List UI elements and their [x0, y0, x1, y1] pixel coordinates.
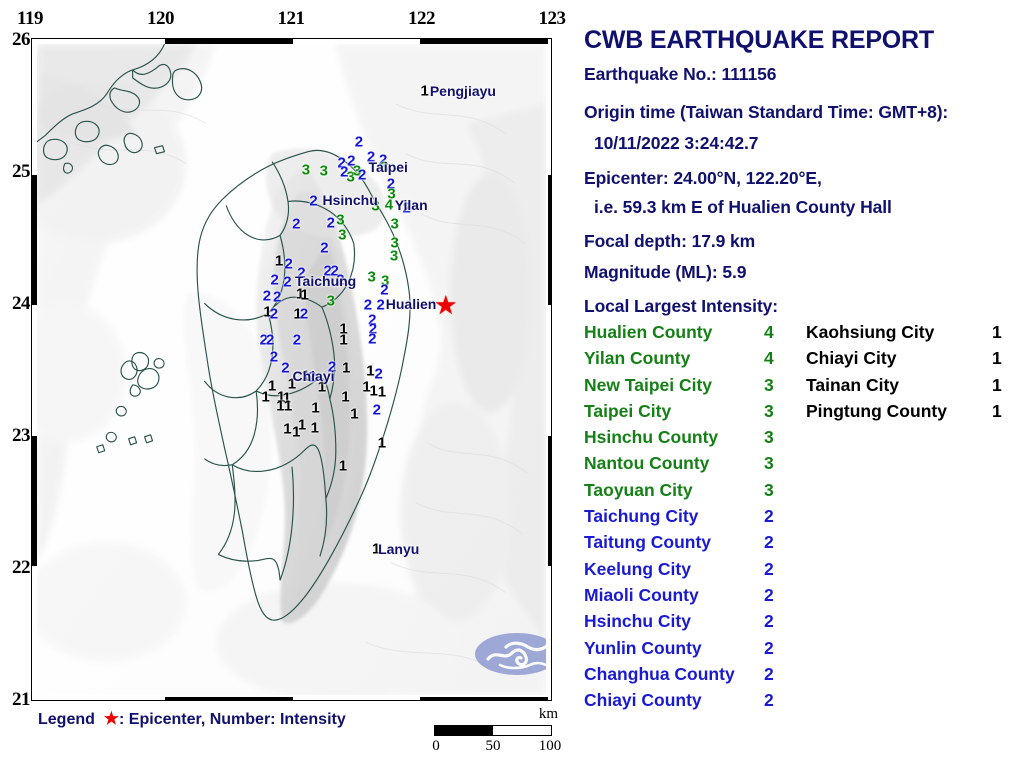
intensity-region-name: Tainan City	[806, 375, 899, 396]
map-intensity-marker: 1	[366, 362, 374, 379]
map-frame: 1222222333323234322332232331222222233211…	[31, 38, 552, 701]
intensity-region-name: Taoyuan City	[584, 480, 693, 501]
map-intensity-marker: 1	[300, 287, 308, 304]
map-intensity-marker: 1	[262, 388, 270, 405]
map-intensity-marker: 1	[421, 83, 429, 100]
map-place-label: Yilan	[395, 197, 428, 213]
map-place-label: Hualien	[386, 296, 437, 312]
latitude-tick-label: 22	[12, 557, 30, 579]
map-place-label: Taipei	[369, 159, 408, 175]
intensity-value: 2	[764, 559, 774, 580]
intensity-row: Chiayi County2	[584, 690, 804, 716]
map-frame-segment	[548, 436, 552, 567]
longitude-tick-label: 122	[408, 8, 435, 30]
intensity-region-name: Kaohsiung City	[806, 322, 934, 343]
map-intensity-marker: 2	[263, 288, 271, 305]
map-intensity-marker: 1	[284, 397, 292, 414]
map-intensity-marker: 2	[293, 332, 301, 349]
map-intensity-marker: 2	[270, 271, 278, 288]
map-intensity-marker: 2	[355, 133, 363, 150]
intensity-value: 3	[764, 375, 774, 396]
intensity-value: 3	[764, 480, 774, 501]
map-intensity-marker: 1	[311, 400, 319, 417]
map-intensity-marker: 2	[358, 167, 366, 184]
intensity-region-name: Taichung City	[584, 506, 698, 527]
intensity-row: New Taipei City3	[584, 375, 804, 401]
map-intensity-marker: 2	[283, 274, 291, 291]
map-intensity-marker: 2	[376, 297, 384, 314]
intensity-region-name: Changhua County	[584, 664, 735, 685]
longitude-tick-label: 119	[17, 8, 43, 30]
map-intensity-marker: 2	[375, 365, 383, 382]
map-intensity-marker: 1	[339, 457, 347, 474]
legend-text: Legend ★: Epicenter, Number: Intensity	[38, 709, 346, 729]
latitude-tick-label: 24	[12, 293, 30, 315]
latitude-axis: 262524232221	[2, 40, 30, 700]
longitude-tick-label: 121	[278, 8, 305, 30]
intensity-row: Changhua County2	[584, 664, 804, 690]
scale-tick-label: 100	[539, 738, 562, 755]
map-intensity-marker: 1	[311, 419, 319, 436]
scale-tick-label: 50	[486, 738, 501, 755]
intensity-row: Taipei City3	[584, 401, 804, 427]
latitude-tick-label: 23	[12, 425, 30, 447]
latitude-tick-label: 26	[12, 29, 30, 51]
scale-bar-fill	[435, 726, 493, 735]
intensity-value: 2	[764, 585, 774, 606]
intensity-row: Taoyuan City3	[584, 480, 804, 506]
intensity-region-name: Yunlin County	[584, 638, 702, 659]
map-intensity-marker: 1	[283, 421, 291, 438]
map-place-label: Pengjiayu	[430, 83, 496, 99]
report-line: Magnitude (ML): 5.9	[584, 262, 746, 283]
epicenter-star-marker: ★	[434, 292, 457, 318]
report-line: Epicenter: 24.00°N, 122.20°E,	[584, 168, 822, 189]
map-place-label: Chiayi	[293, 368, 335, 384]
intensity-value: 3	[764, 453, 774, 474]
report-line: 10/11/2022 3:24:42.7	[594, 133, 758, 154]
map-intensity-marker: 3	[391, 216, 399, 233]
intensity-region-name: Keelung City	[584, 559, 691, 580]
map-intensity-marker: 1	[369, 383, 377, 400]
intensity-region-name: Taipei City	[584, 401, 671, 422]
intensity-row: Tainan City1	[806, 375, 1022, 401]
longitude-tick-label: 120	[147, 8, 174, 30]
map-intensity-marker: 2	[281, 359, 289, 376]
map-intensity-marker: 2	[309, 192, 317, 209]
scale-tick-label: 0	[432, 738, 440, 755]
epicenter-star-icon: ★	[104, 709, 119, 728]
report-line: Local Largest Intensity:	[584, 296, 778, 317]
report-line: Earthquake No.: 111156	[584, 64, 776, 85]
map-intensity-marker: 1	[339, 332, 347, 349]
earthquake-report-page: 119120121122123 262524232221	[0, 0, 1024, 768]
intensity-row: Pingtung County1	[806, 401, 1022, 427]
intensity-row: Taichung City2	[584, 506, 804, 532]
intensity-region-name: Hsinchu City	[584, 611, 691, 632]
intensity-region-name: Nantou County	[584, 453, 709, 474]
intensity-row: Taitung County2	[584, 532, 804, 558]
intensity-value: 2	[764, 611, 774, 632]
intensity-region-name: Chiayi City	[806, 348, 896, 369]
map-intensity-marker: 2	[320, 239, 328, 256]
map-intensity-marker: 1	[378, 384, 386, 401]
map-frame-segment	[32, 175, 37, 306]
intensity-region-name: Hualien County	[584, 322, 712, 343]
intensity-value: 2	[764, 506, 774, 527]
intensity-row: Hsinchu City2	[584, 611, 804, 637]
intensity-row: Hualien County4	[584, 322, 804, 348]
map-intensity-marker: 3	[338, 226, 346, 243]
map-intensity-marker: 2	[270, 349, 278, 366]
map-intensity-marker: 3	[368, 269, 376, 286]
intensity-row: Kaohsiung City1	[806, 322, 1022, 348]
intensity-row: Nantou County3	[584, 453, 804, 479]
longitude-axis: 119120121122123	[30, 8, 552, 34]
intensity-region-name: Pingtung County	[806, 401, 947, 422]
map-intensity-marker: 2	[292, 216, 300, 233]
map-panel: 119120121122123 262524232221	[0, 0, 576, 768]
map-intensity-marker: 1	[342, 359, 350, 376]
legend-label: Legend	[38, 711, 95, 728]
map-place-label: Hsinchu	[323, 192, 378, 208]
report-panel: CWB EARTHQUAKE REPORT Earthquake No.: 11…	[582, 0, 1024, 768]
intensity-value: 2	[764, 664, 774, 685]
intensity-region-name: Chiayi County	[584, 690, 702, 711]
scale-bar-graphic	[434, 725, 552, 736]
map-intensity-marker: 3	[390, 247, 398, 264]
map-frame-segment	[165, 39, 293, 44]
legend-description: : Epicenter, Number: Intensity	[119, 711, 346, 728]
map-intensity-marker: 2	[373, 402, 381, 419]
map-intensity-marker: 1	[378, 434, 386, 451]
intensity-value: 1	[992, 348, 1002, 369]
map-place-label: Taichung	[295, 273, 356, 289]
intensity-region-name: Yilan County	[584, 348, 690, 369]
map-intensity-marker: 1	[275, 252, 283, 269]
map-intensity-marker: 3	[320, 162, 328, 179]
longitude-tick-label: 123	[539, 8, 566, 30]
intensity-column-left: Hualien County4Yilan County4New Taipei C…	[584, 322, 804, 716]
map-place-label: Lanyu	[378, 541, 419, 557]
intensity-region-name: Miaoli County	[584, 585, 699, 606]
map-intensity-marker: 3	[327, 292, 335, 309]
map-intensity-marker: 2	[266, 332, 274, 349]
intensity-row: Hsinchu County3	[584, 427, 804, 453]
map-frame-segment	[32, 436, 37, 567]
latitude-tick-label: 25	[12, 161, 30, 183]
map-intensity-marker: 2	[273, 289, 281, 306]
report-line: Focal depth: 17.9 km	[584, 231, 755, 252]
intensity-region-name: Taitung County	[584, 532, 711, 553]
intensity-value: 1	[992, 401, 1002, 422]
map-intensity-marker: 1	[341, 388, 349, 405]
report-line: Origin time (Taiwan Standard Time: GMT+8…	[584, 102, 948, 123]
map-frame-segment	[420, 697, 548, 701]
intensity-region-name: Hsinchu County	[584, 427, 718, 448]
map-intensity-marker: 2	[284, 256, 292, 273]
intensity-row: Yunlin County2	[584, 638, 804, 664]
scale-unit-label: km	[539, 706, 558, 723]
map-frame-segment	[165, 697, 293, 701]
intensity-row: Yilan County4	[584, 348, 804, 374]
map-intensity-marker: 1	[350, 406, 358, 423]
intensity-value: 1	[992, 375, 1002, 396]
intensity-row: Keelung City2	[584, 559, 804, 585]
map-vectors	[37, 44, 546, 695]
map-intensity-marker: 2	[270, 305, 278, 322]
map-intensity-marker: 2	[300, 306, 308, 323]
intensity-value: 4	[764, 348, 774, 369]
map-intensity-marker: 3	[302, 162, 310, 179]
cwb-watermark-logo	[474, 631, 546, 677]
intensity-value: 3	[764, 427, 774, 448]
map-intensity-marker: 1	[292, 423, 300, 440]
scale-bar: km 050100	[432, 708, 562, 760]
legend-row: Legend ★: Epicenter, Number: Intensity k…	[0, 703, 576, 763]
intensity-value: 4	[764, 322, 774, 343]
map-frame-segment	[548, 175, 552, 306]
intensity-value: 2	[764, 638, 774, 659]
intensity-value: 2	[764, 690, 774, 711]
intensity-row: Chiayi City1	[806, 348, 1022, 374]
map-intensity-marker: 4	[385, 197, 393, 214]
report-line: i.e. 59.3 km E of Hualien County Hall	[594, 197, 892, 218]
intensity-value: 2	[764, 532, 774, 553]
page-title: CWB EARTHQUAKE REPORT	[584, 26, 934, 55]
map-frame-segment	[420, 39, 548, 44]
map-intensity-marker: 2	[368, 331, 376, 348]
map-canvas: 1222222333323234322332232331222222233211…	[37, 44, 546, 695]
map-intensity-marker: 2	[327, 214, 335, 231]
intensity-value: 1	[992, 322, 1002, 343]
intensity-row: Miaoli County2	[584, 585, 804, 611]
intensity-value: 3	[764, 401, 774, 422]
intensity-region-name: New Taipei City	[584, 375, 712, 396]
intensity-column-right: Kaohsiung City1Chiayi City1Tainan City1P…	[806, 322, 1022, 427]
